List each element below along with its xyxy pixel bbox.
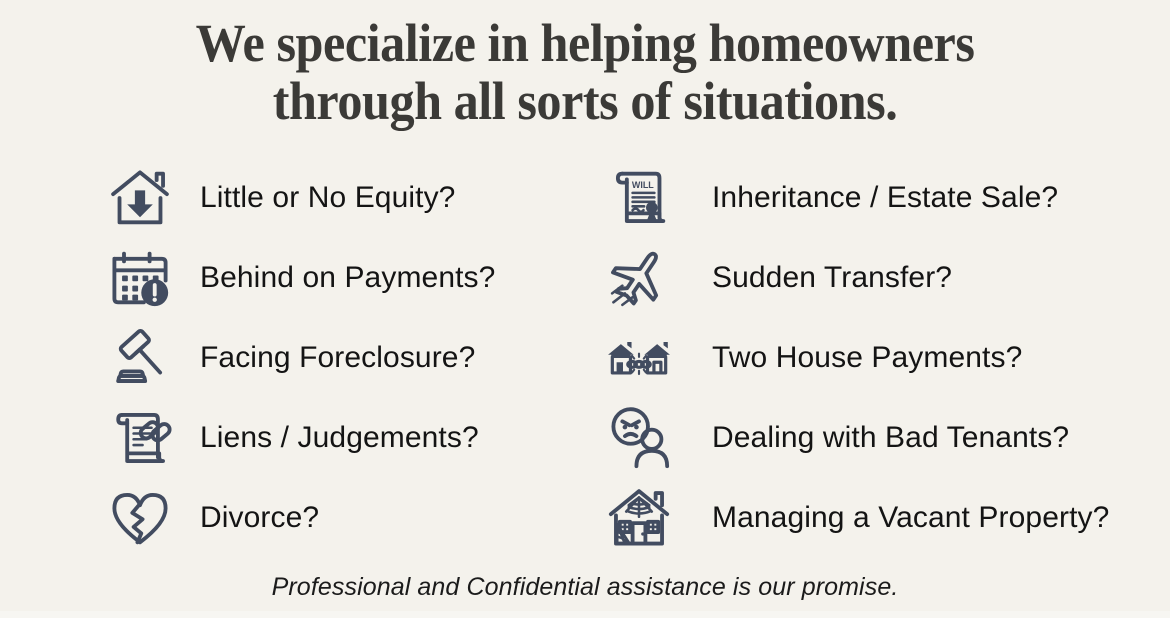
page-title-line-2: through all sorts of situations.	[41, 72, 1129, 130]
list-item-label: Sudden Transfer?	[678, 261, 952, 295]
calendar-alert-icon	[104, 242, 176, 314]
slide-canvas: We specialize in helping homeowners thro…	[0, 0, 1170, 618]
list-item-label: Divorce?	[176, 501, 319, 535]
airplane-icon	[600, 242, 678, 314]
will-scroll-seal-icon: WILL	[600, 162, 678, 234]
page-title-line-1: We specialize in helping homeowners	[41, 14, 1129, 72]
list-item-label: Little or No Equity?	[176, 181, 455, 215]
cobweb-house-icon	[600, 482, 678, 554]
will-label: WILL	[632, 180, 654, 190]
list-item: Little or No Equity?	[104, 158, 574, 238]
list-item-label: Two House Payments?	[678, 341, 1022, 375]
house-down-arrow-icon	[104, 162, 176, 234]
footer-note: Professional and Confidential assistance…	[0, 573, 1170, 602]
list-item: Sudden Transfer?	[600, 238, 1160, 318]
list-item: Two House Payments?	[600, 318, 1160, 398]
list-item-label: Dealing with Bad Tenants?	[678, 421, 1069, 455]
angry-tenant-icon	[600, 402, 678, 474]
list-item-label: Facing Foreclosure?	[176, 341, 475, 375]
page-title: We specialize in helping homeowners thro…	[41, 14, 1129, 130]
document-chain-link-icon	[104, 402, 176, 474]
list-item: Dealing with Bad Tenants?	[600, 398, 1160, 478]
list-item: WILL Inheritance / Estate Sale?	[600, 158, 1160, 238]
reasons-column-right: WILL Inheritance / Estate Sale?	[600, 158, 1160, 558]
list-item-label: Managing a Vacant Property?	[678, 501, 1109, 535]
list-item-label: Inheritance / Estate Sale?	[678, 181, 1058, 215]
list-item-label: Behind on Payments?	[176, 261, 495, 295]
broken-heart-icon	[104, 482, 176, 554]
list-item: Facing Foreclosure?	[104, 318, 574, 398]
list-item: Managing a Vacant Property?	[600, 478, 1160, 558]
list-item: Liens / Judgements?	[104, 398, 574, 478]
list-item: Divorce?	[104, 478, 574, 558]
two-houses-chain-icon	[600, 322, 678, 394]
list-item-label: Liens / Judgements?	[176, 421, 479, 455]
reasons-column-left: Little or No Equity?	[104, 158, 574, 558]
gavel-icon	[104, 322, 176, 394]
list-item: Behind on Payments?	[104, 238, 574, 318]
bottom-strip	[0, 611, 1170, 618]
